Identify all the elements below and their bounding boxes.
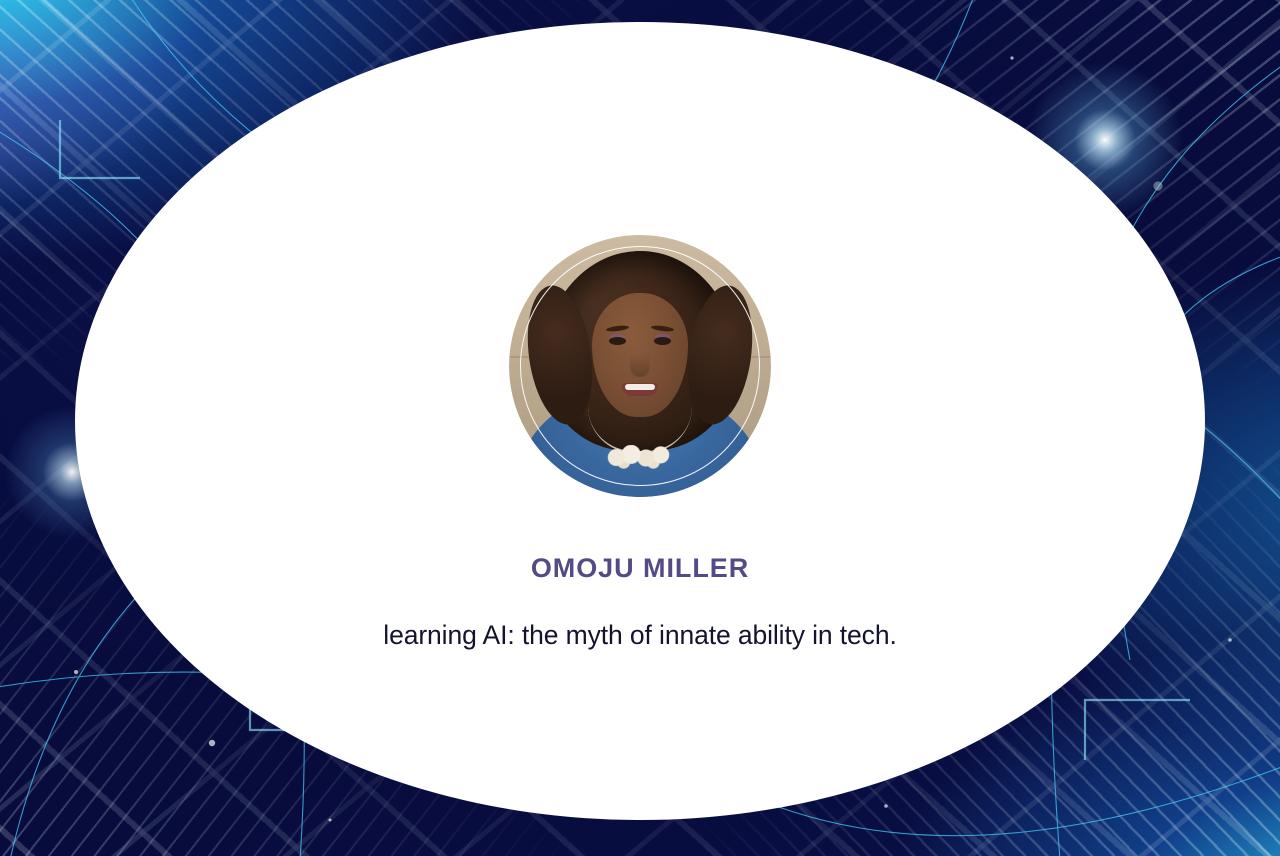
- white-ellipse-card: OMOJU MILLER learning AI: the myth of in…: [75, 22, 1205, 820]
- speaker-portrait-photo: [509, 235, 771, 497]
- portrait-statement-necklace: [603, 445, 677, 471]
- portrait-nose: [630, 355, 650, 377]
- portrait-eye-right: [654, 337, 671, 345]
- portrait-eyebrow-left: [606, 325, 629, 333]
- talk-title: learning AI: the myth of innate ability …: [75, 620, 1205, 651]
- speaker-name: OMOJU MILLER: [75, 553, 1205, 584]
- portrait-mouth: [622, 383, 658, 396]
- speaker-card-slide: OMOJU MILLER learning AI: the myth of in…: [0, 0, 1280, 856]
- portrait-eyebrow-right: [651, 325, 674, 333]
- speaker-avatar: [509, 235, 771, 497]
- portrait-eye-left: [609, 337, 626, 345]
